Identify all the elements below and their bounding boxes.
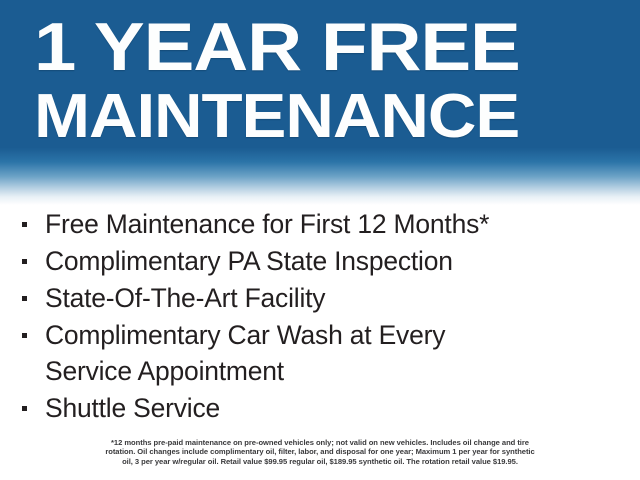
benefit-text: State-Of-The-Art Facility [45,280,628,316]
benefit-text: Free Maintenance for First 12 Months* [45,206,628,242]
benefit-text-line-1: Shuttle Service [45,390,628,426]
benefit-text-line-1: Complimentary PA State Inspection [45,243,628,279]
list-item: Free Maintenance for First 12 Months* [0,206,640,242]
square-bullet-icon [22,333,27,338]
disclaimer-line-3: oil, 3 per year w/regular oil. Retail va… [40,457,600,466]
headline-block: 1 YEAR FREE MAINTENANCE [34,10,618,150]
headline-line-1: 1 YEAR FREE [34,10,640,84]
disclaimer-line-1: *12 months pre-paid maintenance on pre-o… [40,438,600,447]
disclaimer-text: *12 months pre-paid maintenance on pre-o… [40,438,600,466]
list-item: Complimentary Car Wash at Every Service … [0,317,640,389]
square-bullet-icon [22,259,27,264]
disclaimer-line-2: rotation. Oil changes include compliment… [40,447,600,456]
list-item: Shuttle Service [0,390,640,426]
benefit-text-line-1: Free Maintenance for First 12 Months* [45,206,628,242]
list-item: Complimentary PA State Inspection [0,243,640,279]
square-bullet-icon [22,406,27,411]
benefit-text: Complimentary Car Wash at Every Service … [45,317,628,389]
square-bullet-icon [22,222,27,227]
benefit-text-line-2: Service Appointment [45,353,628,389]
promo-poster: 1 YEAR FREE MAINTENANCE Free Maintenance… [0,0,640,480]
benefit-text-line-1: State-Of-The-Art Facility [45,280,628,316]
list-item: State-Of-The-Art Facility [0,280,640,316]
benefits-list: Free Maintenance for First 12 Months* Co… [0,206,640,427]
benefit-text-line-1: Complimentary Car Wash at Every [45,317,628,353]
benefit-text: Shuttle Service [45,390,628,426]
square-bullet-icon [22,296,27,301]
header-banner: 1 YEAR FREE MAINTENANCE [0,0,640,205]
benefit-text: Complimentary PA State Inspection [45,243,628,279]
headline-line-2: MAINTENANCE [34,84,640,150]
